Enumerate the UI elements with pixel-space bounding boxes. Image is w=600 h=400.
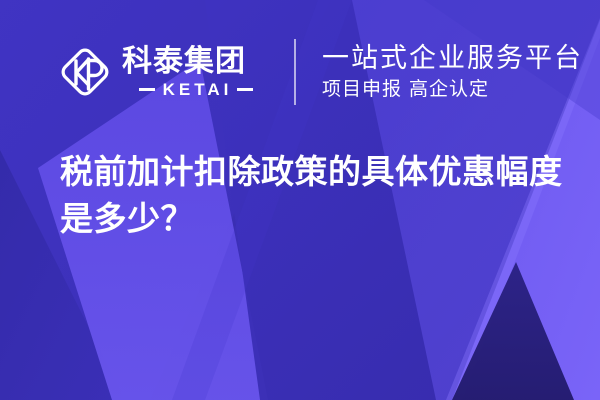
brand-logo[interactable]: 科泰集团 KETAI: [58, 36, 270, 108]
promo-banner: 科泰集团 KETAI 一站式企业服务平台 项目申报 高企认定 税前加计扣除政策的…: [0, 0, 600, 400]
logo-name-en-row: KETAI: [122, 81, 270, 99]
logo-name-en: KETAI: [155, 81, 238, 99]
banner-header: 科泰集团 KETAI 一站式企业服务平台 项目申报 高企认定: [58, 36, 583, 108]
banner-content: 科泰集团 KETAI 一站式企业服务平台 项目申报 高企认定 税前加计扣除政策的…: [0, 0, 600, 400]
headline-line-1: 税前加计扣除政策的具体优惠幅度: [60, 148, 570, 195]
headline: 税前加计扣除政策的具体优惠幅度 是多少？: [60, 148, 570, 242]
logo-dash-right-icon: [237, 88, 253, 91]
logo-name-cn: 科泰集团: [122, 46, 270, 78]
header-vertical-divider: [294, 39, 296, 105]
tagline-primary: 一站式企业服务平台: [322, 42, 583, 76]
logo-wordmark: 科泰集团 KETAI: [122, 41, 270, 103]
ketai-diamond-kp-monogram-icon: [58, 45, 112, 99]
tagline-secondary: 项目申报 高企认定: [322, 76, 583, 102]
headline-line-2: 是多少？: [60, 195, 570, 242]
logo-dash-left-icon: [139, 88, 155, 91]
tagline-block: 一站式企业服务平台 项目申报 高企认定: [322, 37, 583, 107]
